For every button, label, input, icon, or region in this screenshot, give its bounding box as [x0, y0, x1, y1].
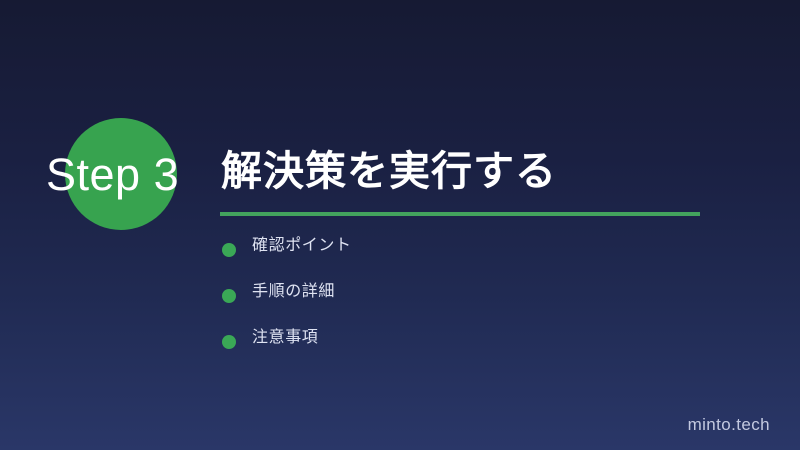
list-item: 注意事項: [220, 327, 700, 373]
list-item-label: 注意事項: [252, 327, 318, 349]
list-item-label: 手順の詳細: [252, 281, 335, 303]
footer-brand-label: minto.tech: [688, 415, 770, 435]
slide-title: 解決策を実行する: [221, 145, 557, 197]
presentation-slide: Step 3 解決策を実行する 確認ポイント 手順の詳細 注意事項 minto.…: [0, 0, 800, 450]
list-item: 確認ポイント: [220, 235, 700, 281]
step-badge-label: Step 3: [46, 147, 206, 203]
bullet-dot-icon: [222, 289, 236, 303]
title-underline-rule: [220, 212, 700, 216]
bullet-list: 確認ポイント 手順の詳細 注意事項: [220, 235, 700, 373]
bullet-dot-icon: [222, 335, 236, 349]
list-item: 手順の詳細: [220, 281, 700, 327]
list-item-label: 確認ポイント: [252, 235, 352, 257]
bullet-dot-icon: [222, 243, 236, 257]
